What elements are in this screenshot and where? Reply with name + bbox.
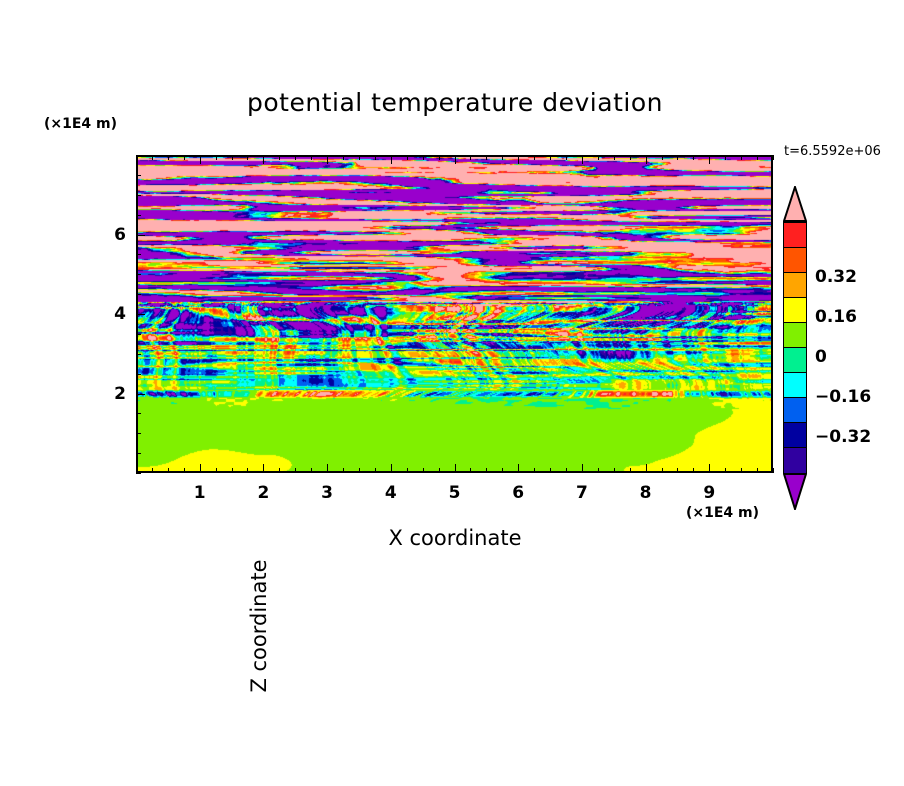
x-tick [455,464,456,473]
colorbar-band [783,372,807,399]
y-tick [136,433,141,434]
colorbar-band [783,222,807,249]
x-tick [263,155,264,164]
x-tick-label: 1 [194,483,206,503]
x-tick [646,464,647,473]
x-tick [582,464,583,473]
x-tick [550,155,551,160]
y-tick [136,215,141,216]
x-tick [725,155,726,160]
x-tick [677,468,678,473]
y-tick [136,314,145,315]
x-tick [470,468,471,473]
y-tick-label: 4 [102,304,126,324]
x-tick [709,155,710,164]
y-tick [136,294,141,295]
x-tick [439,155,440,160]
y-tick [136,195,141,196]
x-tick [407,468,408,473]
colorbar-tick-label: 0.32 [815,267,857,287]
x-tick [311,155,312,160]
colorbar-band [783,297,807,324]
x-tick [518,155,519,164]
x-tick [216,155,217,160]
x-tick [152,155,153,160]
y-tick [136,334,141,335]
x-tick [741,468,742,473]
x-tick [391,155,392,164]
x-tick [263,464,264,473]
x-tick [502,468,503,473]
x-tick [630,155,631,160]
x-tick [423,155,424,160]
x-tick [247,155,248,160]
page-title: potential temperature deviation [136,88,774,117]
x-tick [693,155,694,160]
x-tick [200,155,201,164]
y-tick [136,235,145,236]
x-tick-label: 4 [385,483,397,503]
y-tick [136,274,141,275]
x-tick-label: 8 [640,483,652,503]
x-tick [184,468,185,473]
x-tick [486,155,487,160]
temperature-deviation-field [138,157,773,473]
x-tick [646,155,647,164]
x-tick [168,468,169,473]
x-tick [311,468,312,473]
x-tick [375,155,376,160]
x-tick [757,155,758,160]
x-tick-label: 2 [257,483,269,503]
x-tick [757,468,758,473]
x-tick [343,468,344,473]
colorbar-band [783,447,807,474]
colorbar-tick-label: 0.16 [815,307,857,327]
x-tick [566,155,567,160]
contour-plot-area [136,155,773,473]
y-tick [136,155,141,156]
colorbar-band [783,397,807,424]
y-tick [136,453,141,454]
x-tick [279,155,280,160]
x-tick [279,468,280,473]
x-tick [295,155,296,160]
x-tick-label: 6 [512,483,524,503]
time-annotation: t=6.5592e+06 [784,144,881,159]
colorbar-tick-label: −0.32 [815,427,871,447]
y-tick [136,254,141,255]
x-axis-unit-label: (×1E4 m) [686,505,759,521]
y-tick [136,473,141,474]
x-tick [725,468,726,473]
x-tick [773,155,774,160]
colorbar-band [783,322,807,349]
x-tick [152,468,153,473]
x-tick [247,468,248,473]
x-tick [391,464,392,473]
colorbar-under-cap [783,472,807,508]
x-tick [232,155,233,160]
x-tick-label: 9 [703,483,715,503]
x-tick [455,155,456,164]
x-tick [693,468,694,473]
x-tick-label: 3 [321,483,333,503]
x-tick [614,155,615,160]
x-tick [598,468,599,473]
x-tick [614,468,615,473]
x-tick [534,468,535,473]
x-tick [662,468,663,473]
x-tick [486,468,487,473]
x-tick [327,155,328,164]
x-tick [773,468,774,473]
x-tick [375,468,376,473]
colorbar-band [783,272,807,299]
y-axis-title: Z coordinate [247,466,271,786]
y-tick [136,175,141,176]
x-axis-title: X coordinate [136,526,774,550]
x-tick [630,468,631,473]
x-tick [327,464,328,473]
x-tick [518,464,519,473]
x-tick [566,468,567,473]
colorbar-band [783,247,807,274]
x-tick [662,155,663,160]
y-axis-unit-label: (×1E4 m) [44,116,117,132]
colorbar-tick-label: −0.16 [815,387,871,407]
y-tick [136,354,141,355]
y-tick [136,394,145,395]
colorbar-band [783,422,807,449]
x-tick [184,155,185,160]
x-tick-label: 5 [449,483,461,503]
x-tick [677,155,678,160]
x-tick [582,155,583,164]
colorbar-band [783,347,807,374]
x-tick [534,155,535,160]
x-tick [168,155,169,160]
x-tick [200,464,201,473]
x-tick [343,155,344,160]
x-tick [216,468,217,473]
y-tick-label: 2 [102,384,126,404]
x-tick [423,468,424,473]
y-tick [136,374,141,375]
colorbar: 0.320.160−0.16−0.32 [783,222,807,472]
x-tick [550,468,551,473]
y-tick-label: 6 [102,225,126,245]
colorbar-tick-label: 0 [815,347,827,367]
x-tick [439,468,440,473]
x-tick [598,155,599,160]
figure-canvas: potential temperature deviation (×1E4 m)… [0,0,904,654]
x-tick [295,468,296,473]
x-tick [407,155,408,160]
colorbar-over-cap [783,186,807,222]
x-tick [470,155,471,160]
x-tick [232,468,233,473]
y-tick [136,413,141,414]
x-tick [741,155,742,160]
x-tick-label: 7 [576,483,588,503]
x-tick [359,468,360,473]
x-tick [709,464,710,473]
x-tick [359,155,360,160]
x-tick [502,155,503,160]
